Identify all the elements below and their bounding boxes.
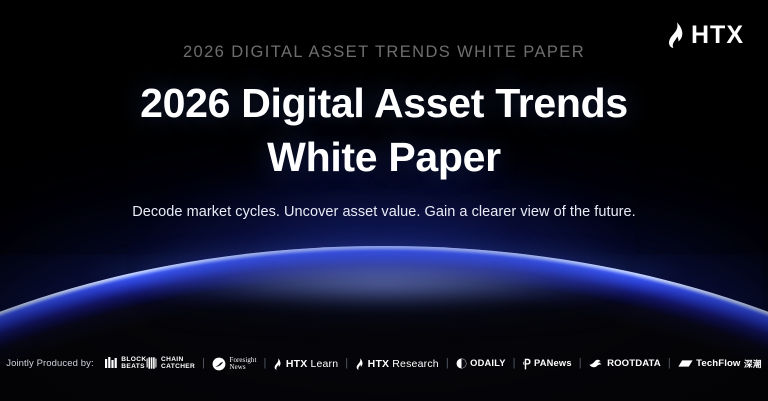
partner-separator: |	[579, 358, 582, 369]
partner-logo-htx-learn[interactable]: HTX Learn	[273, 358, 338, 370]
partner-logo-rootdata[interactable]: ROOTDATA	[589, 358, 661, 369]
htx-learn-suffix: Learn	[310, 358, 338, 370]
partner-name-htx-research: HTX Research	[368, 358, 439, 370]
techflow-slash-icon	[678, 359, 693, 368]
hero-eyebrow: 2026 DIGITAL ASSET TRENDS WHITE PAPER	[0, 42, 768, 63]
foresight-line-1: Foresight	[230, 357, 257, 364]
blockbeats-bars-icon	[105, 357, 118, 370]
partner-logo-panews[interactable]: PANews	[523, 358, 572, 370]
partner-logo-foresight-news[interactable]: Foresight News	[212, 357, 256, 372]
odaily-circle-icon	[456, 358, 467, 369]
planet-top-haze	[74, 238, 694, 298]
partner-name-foresight-news: Foresight News	[230, 357, 257, 372]
blockbeats-line-2: BEATS	[121, 364, 146, 371]
partner-separator: |	[263, 358, 266, 369]
partner-separator: |	[668, 358, 671, 369]
hero-title: 2026 Digital Asset Trends White Paper	[0, 77, 768, 184]
partner-name-panews: PANews	[534, 359, 572, 369]
htx-research-brand: HTX	[368, 358, 390, 370]
partner-logo-blockbeats[interactable]: BLOCK BEATS	[105, 357, 147, 371]
panews-mark-icon	[523, 358, 531, 370]
partner-separator: |	[446, 358, 449, 369]
partner-name-techflow-cn: 深潮	[744, 358, 762, 370]
partner-logo-htx-research[interactable]: HTX Research	[355, 358, 439, 370]
partner-name-htx-learn: HTX Learn	[286, 358, 338, 370]
partner-name-odaily: ODAILY	[470, 359, 505, 369]
partner-name-techflow: TechFlow	[696, 359, 740, 369]
partner-logo-odaily[interactable]: ODAILY	[456, 358, 506, 369]
partners-label: Jointly Produced by:	[6, 358, 94, 369]
partner-name-chaincatcher: CHAIN CATCHER	[161, 357, 195, 371]
foresight-line-2: News	[230, 364, 257, 371]
htx-flame-icon	[273, 358, 282, 370]
planet-limb	[0, 246, 768, 401]
poster-canvas: HTX 2026 DIGITAL ASSET TRENDS WHITE PAPE…	[0, 0, 768, 401]
hero-title-line-1: 2026 Digital Asset Trends	[0, 77, 768, 130]
partner-logo-techflow[interactable]: TechFlow 深潮	[678, 358, 762, 370]
partner-separator: |	[513, 358, 516, 369]
partner-separator: |	[345, 358, 348, 369]
chaincatcher-column-icon	[146, 357, 157, 370]
partners-strip: Jointly Produced by: BLOCK BEATS	[0, 357, 768, 372]
partner-name-blockbeats: BLOCK BEATS	[121, 357, 146, 371]
atmosphere-glow	[0, 246, 768, 401]
partner-logo-chaincatcher[interactable]: CHAIN CATCHER	[146, 357, 195, 371]
rootdata-arrow-icon	[589, 358, 604, 369]
hero-title-line-2: White Paper	[0, 131, 768, 184]
foresight-circle-icon	[212, 357, 226, 371]
chaincatcher-line-2: CATCHER	[161, 364, 195, 371]
htx-research-suffix: Research	[392, 358, 439, 370]
partner-separator: |	[202, 358, 205, 369]
hero-subtitle: Decode market cycles. Uncover asset valu…	[0, 202, 768, 222]
partner-name-rootdata: ROOTDATA	[607, 359, 661, 369]
hero-text-block: 2026 DIGITAL ASSET TRENDS WHITE PAPER 20…	[0, 42, 768, 222]
htx-flame-icon	[355, 358, 364, 370]
htx-learn-brand: HTX	[286, 358, 308, 370]
planet-rim-highlight	[0, 246, 768, 401]
